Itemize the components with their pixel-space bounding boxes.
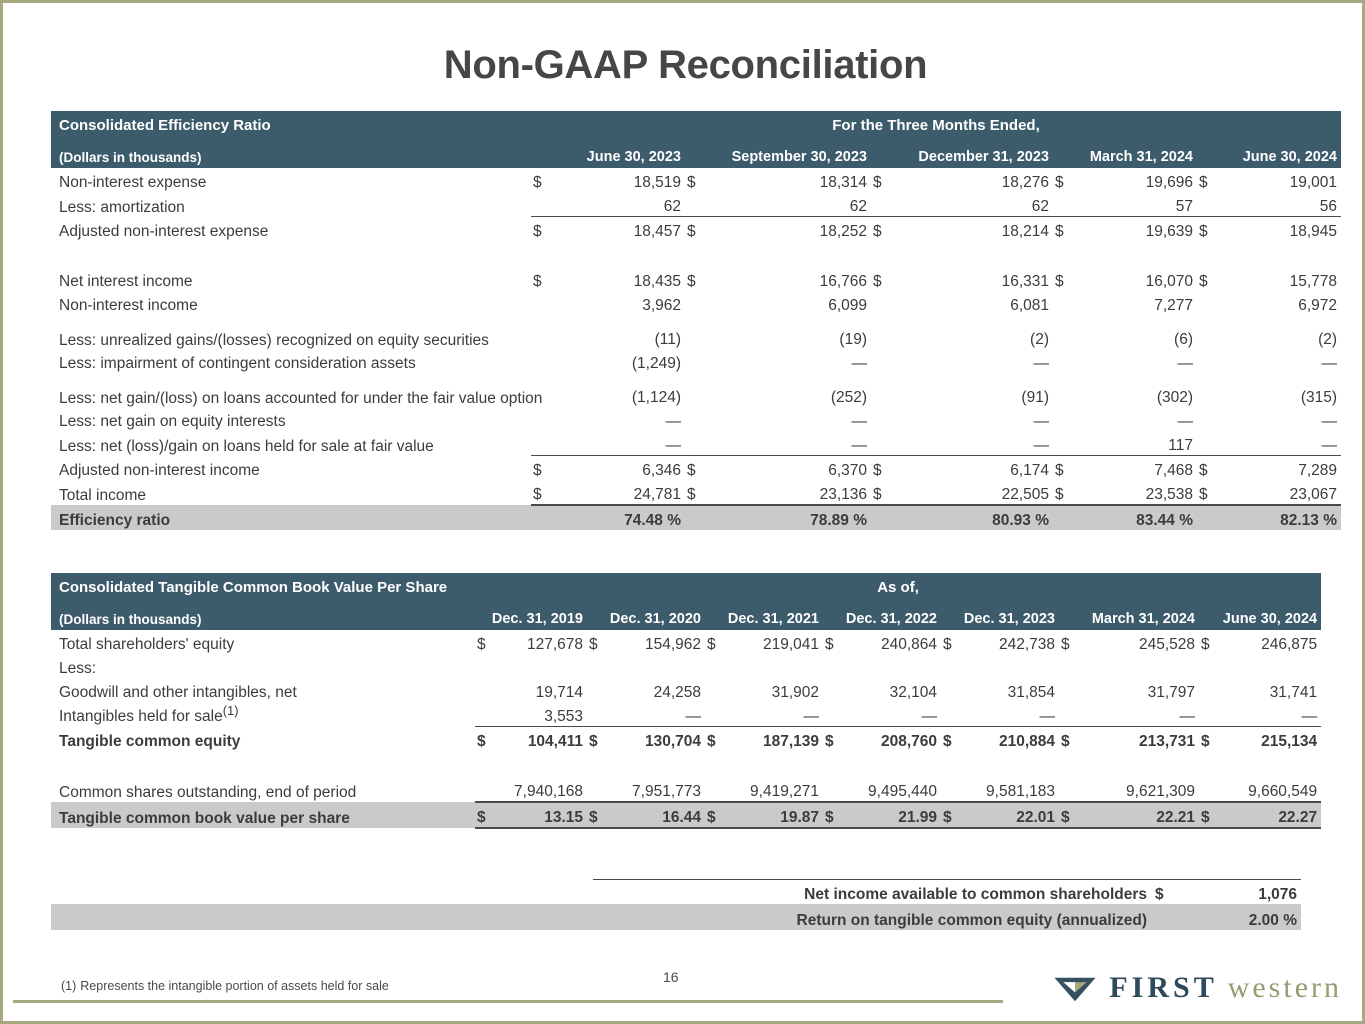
currency-symbol: $ xyxy=(1197,480,1223,505)
currency-symbol xyxy=(705,702,727,727)
row-label: Less: xyxy=(51,654,475,678)
currency-symbol: $ xyxy=(1059,802,1081,828)
currency-symbol: $ xyxy=(587,727,609,752)
currency-symbol xyxy=(685,315,711,349)
efficiency-ratio-table: Consolidated Efficiency Ratio For the Th… xyxy=(51,111,1341,530)
currency-symbol xyxy=(941,777,963,802)
cell-value: — xyxy=(1079,349,1197,373)
footnote-marker: (1) xyxy=(223,703,239,718)
cell-value: 7,951,773 xyxy=(609,777,705,802)
cell-value: 6,346 xyxy=(557,456,685,481)
currency-symbol xyxy=(685,349,711,373)
cell-value: 240,864 xyxy=(845,630,941,654)
cell-value: 18,252 xyxy=(711,217,871,242)
logo-text-first: FIRST xyxy=(1109,971,1217,1005)
currency-symbol xyxy=(823,678,845,702)
table2-col-2: Dec. 31, 2021 xyxy=(705,599,823,630)
cell-value: 24,781 xyxy=(557,480,685,505)
currency-symbol xyxy=(1059,678,1081,702)
currency-symbol xyxy=(531,431,557,456)
currency-symbol xyxy=(587,678,609,702)
cell-value: 6,099 xyxy=(711,291,871,315)
cell-value: 74.48 % xyxy=(557,505,685,530)
cell-value: 7,277 xyxy=(1079,291,1197,315)
cell-value: 31,741 xyxy=(1221,678,1321,702)
cell-value: 16,766 xyxy=(711,267,871,291)
row-label: Total income xyxy=(51,480,531,505)
cell-value: 16,070 xyxy=(1079,267,1197,291)
cell-value: — xyxy=(727,702,823,727)
currency-symbol: $ xyxy=(1053,168,1079,192)
cell-value: — xyxy=(897,431,1053,456)
currency-symbol: $ xyxy=(871,480,897,505)
currency-symbol: $ xyxy=(941,802,963,828)
cell-value: 7,940,168 xyxy=(497,777,587,802)
row-label-text: Intangibles held for sale xyxy=(59,709,223,726)
cell-value: 23,538 xyxy=(1079,480,1197,505)
cell-value: 6,972 xyxy=(1223,291,1341,315)
company-logo: FIRST western xyxy=(1053,971,1342,1005)
cell-value: 16.44 xyxy=(609,802,705,828)
cell-value: 154,962 xyxy=(609,630,705,654)
row-label: Efficiency ratio xyxy=(51,505,531,530)
currency-symbol xyxy=(475,678,497,702)
page-title: Non-GAAP Reconciliation xyxy=(3,43,1365,88)
currency-symbol xyxy=(871,407,897,431)
currency-symbol: $ xyxy=(705,802,727,828)
currency-symbol: $ xyxy=(1053,456,1079,481)
cell-value: 22.01 xyxy=(963,802,1059,828)
cell-value: (315) xyxy=(1223,373,1341,407)
slide: Non-GAAP Reconciliation Consolidated Eff… xyxy=(0,0,1365,1024)
cell-value: 9,621,309 xyxy=(1081,777,1199,802)
currency-symbol xyxy=(1053,349,1079,373)
row-label: Net income available to common sharehold… xyxy=(593,880,1153,905)
cell-value: 22,505 xyxy=(897,480,1053,505)
cell-value: 208,760 xyxy=(845,727,941,752)
cell-value: 19,696 xyxy=(1079,168,1197,192)
footnote-mark: (1) xyxy=(61,979,76,993)
table-row: Total shareholders' equity $ 127,678 $ 1… xyxy=(51,630,1321,654)
tangible-book-value-row: Tangible common book value per share $ 1… xyxy=(51,802,1321,828)
currency-symbol xyxy=(1197,505,1223,530)
table-row: Less: xyxy=(51,654,1321,678)
table-row: Tangible common equity $ 104,411 $ 130,7… xyxy=(51,727,1321,752)
cell-value: — xyxy=(1221,702,1321,727)
first-western-w-mark-icon xyxy=(1053,973,1097,1003)
cell-value: 6,174 xyxy=(897,456,1053,481)
currency-symbol xyxy=(1053,373,1079,407)
cell-value: — xyxy=(897,407,1053,431)
currency-symbol xyxy=(475,777,497,802)
cell-value: 19,639 xyxy=(1079,217,1197,242)
currency-symbol xyxy=(1153,904,1183,930)
cell-value: — xyxy=(1223,431,1341,456)
currency-symbol xyxy=(1053,192,1079,217)
cell-value: 6,370 xyxy=(711,456,871,481)
cell-value: — xyxy=(609,702,705,727)
table-row: Non-interest expense $ 18,519 $ 18,314 $… xyxy=(51,168,1341,192)
currency-symbol: $ xyxy=(475,727,497,752)
currency-symbol: $ xyxy=(1059,630,1081,654)
cell-value: 127,678 xyxy=(497,630,587,654)
table2-col-3: Dec. 31, 2022 xyxy=(823,599,941,630)
currency-symbol: $ xyxy=(705,630,727,654)
currency-symbol xyxy=(1053,505,1079,530)
currency-symbol: $ xyxy=(475,630,497,654)
cell-value: 23,136 xyxy=(711,480,871,505)
cell-value: 62 xyxy=(897,192,1053,217)
table1-span-header: For the Three Months Ended, xyxy=(531,111,1341,137)
row-label: Adjusted non-interest expense xyxy=(51,217,531,242)
currency-symbol: $ xyxy=(1053,267,1079,291)
row-label: Non-interest income xyxy=(51,291,531,315)
currency-symbol xyxy=(941,678,963,702)
row-label: Less: net (loss)/gain on loans held for … xyxy=(51,431,531,456)
table2-header-row-2: (Dollars in thousands) Dec. 31, 2019 Dec… xyxy=(51,599,1321,630)
currency-symbol xyxy=(475,702,497,727)
currency-symbol: $ xyxy=(531,456,557,481)
currency-symbol: $ xyxy=(823,727,845,752)
cell-value: — xyxy=(963,702,1059,727)
cell-value: 23,067 xyxy=(1223,480,1341,505)
cell-value: 82.13 % xyxy=(1223,505,1341,530)
cell-value: 32,104 xyxy=(845,678,941,702)
table-row: Total income $ 24,781 $ 23,136 $ 22,505 … xyxy=(51,480,1341,505)
currency-symbol: $ xyxy=(871,168,897,192)
currency-symbol: $ xyxy=(1199,802,1221,828)
currency-symbol xyxy=(1053,431,1079,456)
table2-header-row-1: Consolidated Tangible Common Book Value … xyxy=(51,573,1321,599)
cell-value: 80.93 % xyxy=(897,505,1053,530)
currency-symbol xyxy=(1197,349,1223,373)
footnote: (1)Represents the intangible portion of … xyxy=(61,979,389,993)
currency-symbol xyxy=(685,431,711,456)
row-label: Tangible common book value per share xyxy=(51,802,475,828)
page-number: 16 xyxy=(663,969,679,985)
currency-symbol xyxy=(1059,702,1081,727)
spacer-row xyxy=(51,751,1321,777)
table1-subtitle: (Dollars in thousands) xyxy=(51,137,531,168)
currency-symbol xyxy=(1199,678,1221,702)
currency-symbol xyxy=(871,315,897,349)
cell-value: — xyxy=(845,702,941,727)
footer-divider xyxy=(13,1000,1003,1003)
table1-col-0: June 30, 2023 xyxy=(531,137,685,168)
table-row: Adjusted non-interest expense $ 18,457 $… xyxy=(51,217,1341,242)
cell-value: 15,778 xyxy=(1223,267,1341,291)
currency-symbol xyxy=(587,702,609,727)
currency-symbol xyxy=(1053,291,1079,315)
currency-symbol xyxy=(685,192,711,217)
table2-col-6: June 30, 2024 xyxy=(1199,599,1321,630)
currency-symbol xyxy=(823,777,845,802)
cell-value: (252) xyxy=(711,373,871,407)
currency-symbol: $ xyxy=(685,168,711,192)
cell-value: 18,457 xyxy=(557,217,685,242)
table-row: Less: impairment of contingent considera… xyxy=(51,349,1341,373)
row-label: Non-interest expense xyxy=(51,168,531,192)
currency-symbol: $ xyxy=(1053,217,1079,242)
cell-value: 245,528 xyxy=(1081,630,1199,654)
row-label: Tangible common equity xyxy=(51,727,475,752)
currency-symbol xyxy=(871,373,897,407)
currency-symbol xyxy=(871,505,897,530)
cell-value: (1,124) xyxy=(557,373,685,407)
cell-value: 215,134 xyxy=(1221,727,1321,752)
cell-value: 18,314 xyxy=(711,168,871,192)
cell-value: (6) xyxy=(1079,315,1197,349)
currency-symbol xyxy=(1197,291,1223,315)
currency-symbol: $ xyxy=(1199,630,1221,654)
cell-value: — xyxy=(1079,407,1197,431)
currency-symbol xyxy=(1053,315,1079,349)
spacer-row xyxy=(51,241,1341,267)
row-label: Less: unrealized gains/(losses) recogniz… xyxy=(51,315,531,349)
currency-symbol xyxy=(531,505,557,530)
summary-row: Return on tangible common equity (annual… xyxy=(51,904,1301,930)
cell-value: — xyxy=(711,431,871,456)
currency-symbol: $ xyxy=(823,630,845,654)
cell-value: 9,660,549 xyxy=(1221,777,1321,802)
table1-header-row-2: (Dollars in thousands) June 30, 2023 Sep… xyxy=(51,137,1341,168)
cell-value: 9,581,183 xyxy=(963,777,1059,802)
currency-symbol xyxy=(1197,431,1223,456)
cell-value: 242,738 xyxy=(963,630,1059,654)
currency-symbol xyxy=(871,291,897,315)
currency-symbol: $ xyxy=(705,727,727,752)
table-row: Less: net gain/(loss) on loans accounted… xyxy=(51,373,1341,407)
cell-value: 7,289 xyxy=(1223,456,1341,481)
table-row: Less: net gain on equity interests — — —… xyxy=(51,407,1341,431)
cell-value: 16,331 xyxy=(897,267,1053,291)
cell-value: 1,076 xyxy=(1183,880,1301,905)
cell-value: 19.87 xyxy=(727,802,823,828)
currency-symbol: $ xyxy=(1197,168,1223,192)
cell-value: 117 xyxy=(1079,431,1197,456)
cell-value: 13.15 xyxy=(497,802,587,828)
cell-value: 3,553 xyxy=(497,702,587,727)
cell-value: — xyxy=(557,407,685,431)
row-label: Total shareholders' equity xyxy=(51,630,475,654)
cell-value: (1,249) xyxy=(557,349,685,373)
currency-symbol: $ xyxy=(871,456,897,481)
row-label: Goodwill and other intangibles, net xyxy=(51,678,475,702)
table1-col-2: December 31, 2023 xyxy=(871,137,1053,168)
currency-symbol: $ xyxy=(1197,456,1223,481)
table-row: Goodwill and other intangibles, net 19,7… xyxy=(51,678,1321,702)
cell-value: 19,001 xyxy=(1223,168,1341,192)
currency-symbol: $ xyxy=(685,267,711,291)
cell-value: 18,276 xyxy=(897,168,1053,192)
currency-symbol: $ xyxy=(685,456,711,481)
cell-value: 210,884 xyxy=(963,727,1059,752)
table-row: Less: unrealized gains/(losses) recogniz… xyxy=(51,315,1341,349)
currency-symbol xyxy=(531,349,557,373)
currency-symbol: $ xyxy=(531,217,557,242)
currency-symbol: $ xyxy=(823,802,845,828)
row-label: Return on tangible common equity (annual… xyxy=(593,904,1153,930)
currency-symbol xyxy=(1199,777,1221,802)
currency-symbol: $ xyxy=(1153,880,1183,905)
currency-symbol xyxy=(1197,192,1223,217)
cell-value: 18,214 xyxy=(897,217,1053,242)
cell-value: 9,495,440 xyxy=(845,777,941,802)
cell-value: — xyxy=(897,349,1053,373)
currency-symbol: $ xyxy=(587,802,609,828)
cell-value: 31,854 xyxy=(963,678,1059,702)
cell-value: — xyxy=(711,407,871,431)
currency-symbol: $ xyxy=(1059,727,1081,752)
cell-value: — xyxy=(1223,349,1341,373)
currency-symbol: $ xyxy=(531,480,557,505)
cell-value: (2) xyxy=(1223,315,1341,349)
cell-value: 3,962 xyxy=(557,291,685,315)
cell-value: 22.27 xyxy=(1221,802,1321,828)
row-label: Less: net gain/(loss) on loans accounted… xyxy=(51,373,531,407)
currency-symbol xyxy=(1197,373,1223,407)
table1-col-3: March 31, 2024 xyxy=(1053,137,1197,168)
cell-value: 7,468 xyxy=(1079,456,1197,481)
cell-value: 31,797 xyxy=(1081,678,1199,702)
cell-value: (302) xyxy=(1079,373,1197,407)
row-label: Intangibles held for sale(1) xyxy=(51,702,475,727)
currency-symbol xyxy=(1059,777,1081,802)
cell-value: 18,519 xyxy=(557,168,685,192)
cell-value: 19,714 xyxy=(497,678,587,702)
currency-symbol: $ xyxy=(941,727,963,752)
currency-symbol xyxy=(685,373,711,407)
currency-symbol: $ xyxy=(941,630,963,654)
currency-symbol: $ xyxy=(685,217,711,242)
cell-value: (2) xyxy=(897,315,1053,349)
cell-value: 18,945 xyxy=(1223,217,1341,242)
cell-value: 56 xyxy=(1223,192,1341,217)
table-row: Less: amortization 62 62 62 57 56 xyxy=(51,192,1341,217)
table1-header-row-1: Consolidated Efficiency Ratio For the Th… xyxy=(51,111,1341,137)
currency-symbol xyxy=(941,702,963,727)
cell-value: 246,875 xyxy=(1221,630,1321,654)
currency-symbol xyxy=(587,777,609,802)
cell-value: — xyxy=(711,349,871,373)
currency-symbol xyxy=(871,349,897,373)
cell-value: 2.00 % xyxy=(1183,904,1301,930)
currency-symbol xyxy=(685,407,711,431)
currency-symbol xyxy=(685,291,711,315)
currency-symbol xyxy=(705,678,727,702)
row-label: Less: impairment of contingent considera… xyxy=(51,349,531,373)
table2-span-header: As of, xyxy=(475,573,1321,599)
currency-symbol xyxy=(871,431,897,456)
table-row: Net interest income $ 18,435 $ 16,766 $ … xyxy=(51,267,1341,291)
currency-symbol xyxy=(823,702,845,727)
cell-value: 57 xyxy=(1079,192,1197,217)
table-row: Adjusted non-interest income $ 6,346 $ 6… xyxy=(51,456,1341,481)
table2-col-4: Dec. 31, 2023 xyxy=(941,599,1059,630)
table1-title: Consolidated Efficiency Ratio xyxy=(51,111,531,137)
summary-row: Net income available to common sharehold… xyxy=(51,880,1301,905)
cell-value: 78.89 % xyxy=(711,505,871,530)
cell-value: 31,902 xyxy=(727,678,823,702)
efficiency-ratio-row: Efficiency ratio 74.48 % 78.89 % 80.93 %… xyxy=(51,505,1341,530)
table-row: Common shares outstanding, end of period… xyxy=(51,777,1321,802)
currency-symbol xyxy=(531,407,557,431)
currency-symbol: $ xyxy=(475,802,497,828)
cell-value: 22.21 xyxy=(1081,802,1199,828)
currency-symbol xyxy=(531,315,557,349)
table1-col-1: September 30, 2023 xyxy=(685,137,871,168)
cell-value: 24,258 xyxy=(609,678,705,702)
row-label: Less: amortization xyxy=(51,192,531,217)
cell-value: 187,139 xyxy=(727,727,823,752)
cell-value: (91) xyxy=(897,373,1053,407)
currency-symbol xyxy=(1197,315,1223,349)
table2-col-0: Dec. 31, 2019 xyxy=(475,599,587,630)
currency-symbol xyxy=(705,777,727,802)
tangible-book-value-table: Consolidated Tangible Common Book Value … xyxy=(51,573,1321,829)
currency-symbol: $ xyxy=(1197,217,1223,242)
cell-value: 62 xyxy=(557,192,685,217)
cell-value: — xyxy=(557,431,685,456)
currency-symbol: $ xyxy=(871,267,897,291)
currency-symbol: $ xyxy=(1197,267,1223,291)
currency-symbol: $ xyxy=(531,267,557,291)
cell-value: 83.44 % xyxy=(1079,505,1197,530)
currency-symbol xyxy=(1053,407,1079,431)
cell-value: 213,731 xyxy=(1081,727,1199,752)
currency-symbol: $ xyxy=(1053,480,1079,505)
cell-value: 62 xyxy=(711,192,871,217)
cell-value: — xyxy=(1223,407,1341,431)
table1-col-4: June 30, 2024 xyxy=(1197,137,1341,168)
cell-value: (19) xyxy=(711,315,871,349)
cell-value: 9,419,271 xyxy=(727,777,823,802)
table-row: Intangibles held for sale(1) 3,553 — — —… xyxy=(51,702,1321,727)
cell-value: (11) xyxy=(557,315,685,349)
currency-symbol xyxy=(531,192,557,217)
cell-value: 6,081 xyxy=(897,291,1053,315)
cell-value: 130,704 xyxy=(609,727,705,752)
logo-text-western: western xyxy=(1228,971,1342,1005)
table-row: Less: net (loss)/gain on loans held for … xyxy=(51,431,1341,456)
currency-symbol xyxy=(1197,407,1223,431)
row-label: Common shares outstanding, end of period xyxy=(51,777,475,802)
currency-symbol: $ xyxy=(685,480,711,505)
currency-symbol xyxy=(531,291,557,315)
summary-table: Net income available to common sharehold… xyxy=(51,879,1301,930)
currency-symbol: $ xyxy=(531,168,557,192)
row-label: Less: net gain on equity interests xyxy=(51,407,531,431)
currency-symbol xyxy=(685,505,711,530)
table2-subtitle: (Dollars in thousands) xyxy=(51,599,475,630)
currency-symbol: $ xyxy=(871,217,897,242)
currency-symbol: $ xyxy=(587,630,609,654)
currency-symbol xyxy=(1199,702,1221,727)
cell-value: 18,435 xyxy=(557,267,685,291)
cell-value: 21.99 xyxy=(845,802,941,828)
currency-symbol: $ xyxy=(1199,727,1221,752)
table2-col-1: Dec. 31, 2020 xyxy=(587,599,705,630)
table-row: Non-interest income 3,962 6,099 6,081 7,… xyxy=(51,291,1341,315)
row-label: Net interest income xyxy=(51,267,531,291)
cell-value: — xyxy=(1081,702,1199,727)
table2-col-5: March 31, 2024 xyxy=(1059,599,1199,630)
row-label: Adjusted non-interest income xyxy=(51,456,531,481)
footnote-text: Represents the intangible portion of ass… xyxy=(80,979,389,993)
cell-value: 219,041 xyxy=(727,630,823,654)
table2-title: Consolidated Tangible Common Book Value … xyxy=(51,573,475,599)
cell-value: 104,411 xyxy=(497,727,587,752)
